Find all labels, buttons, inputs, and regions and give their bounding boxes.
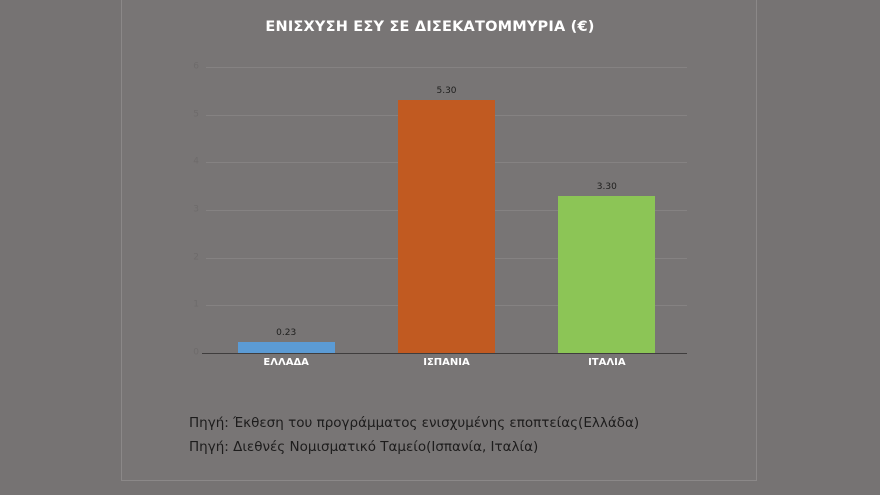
y-axis-tick-label: 6 <box>169 63 199 72</box>
bar-value-label: 5.30 <box>436 87 456 96</box>
source-notes: Πηγή: Έκθεση του προγράμματος ενισχυμένη… <box>189 411 639 459</box>
source-line: Πηγή: Διεθνές Νομισματικό Ταμείο(Ισπανία… <box>189 435 639 459</box>
y-axis-tick-label: 4 <box>169 158 199 167</box>
chart-plot-area: 0123456 0.23ΕΛΛΑΔΑ5.30ΙΣΠΑΝΙΑ3.30ΙΤΑΛΙΑ <box>206 67 687 353</box>
y-axis-tick-label: 3 <box>169 206 199 215</box>
x-axis-category-label: ΕΛΛΑΔΑ <box>263 358 309 368</box>
bar[interactable]: 3.30ΙΤΑΛΙΑ <box>558 196 655 353</box>
gridline <box>206 67 687 68</box>
y-axis-tick-label: 2 <box>169 253 199 262</box>
y-axis-tick-label: 5 <box>169 110 199 119</box>
bar-value-label: 3.30 <box>597 183 617 192</box>
y-axis-tick-label: 0 <box>169 349 199 358</box>
x-axis-category-label: ΙΣΠΑΝΙΑ <box>423 358 470 368</box>
y-axis-tick-label: 1 <box>169 301 199 310</box>
chart-title: ΕΝΙΣΧΥΣΗ ΕΣΥ ΣΕ ΔΙΣΕΚΑΤΟΜΜΥΡΙΑ (€) <box>130 19 730 35</box>
x-axis-line <box>202 353 687 354</box>
x-axis-category-label: ΙΤΑΛΙΑ <box>588 358 625 368</box>
bar-value-label: 0.23 <box>276 329 296 338</box>
bar[interactable]: 0.23ΕΛΛΑΔΑ <box>238 342 335 353</box>
source-line: Πηγή: Έκθεση του προγράμματος ενισχυμένη… <box>189 411 639 435</box>
slide-canvas: ΕΝΙΣΧΥΣΗ ΕΣΥ ΣΕ ΔΙΣΕΚΑΤΟΜΜΥΡΙΑ (€) 01234… <box>0 0 880 495</box>
bar[interactable]: 5.30ΙΣΠΑΝΙΑ <box>398 100 495 353</box>
